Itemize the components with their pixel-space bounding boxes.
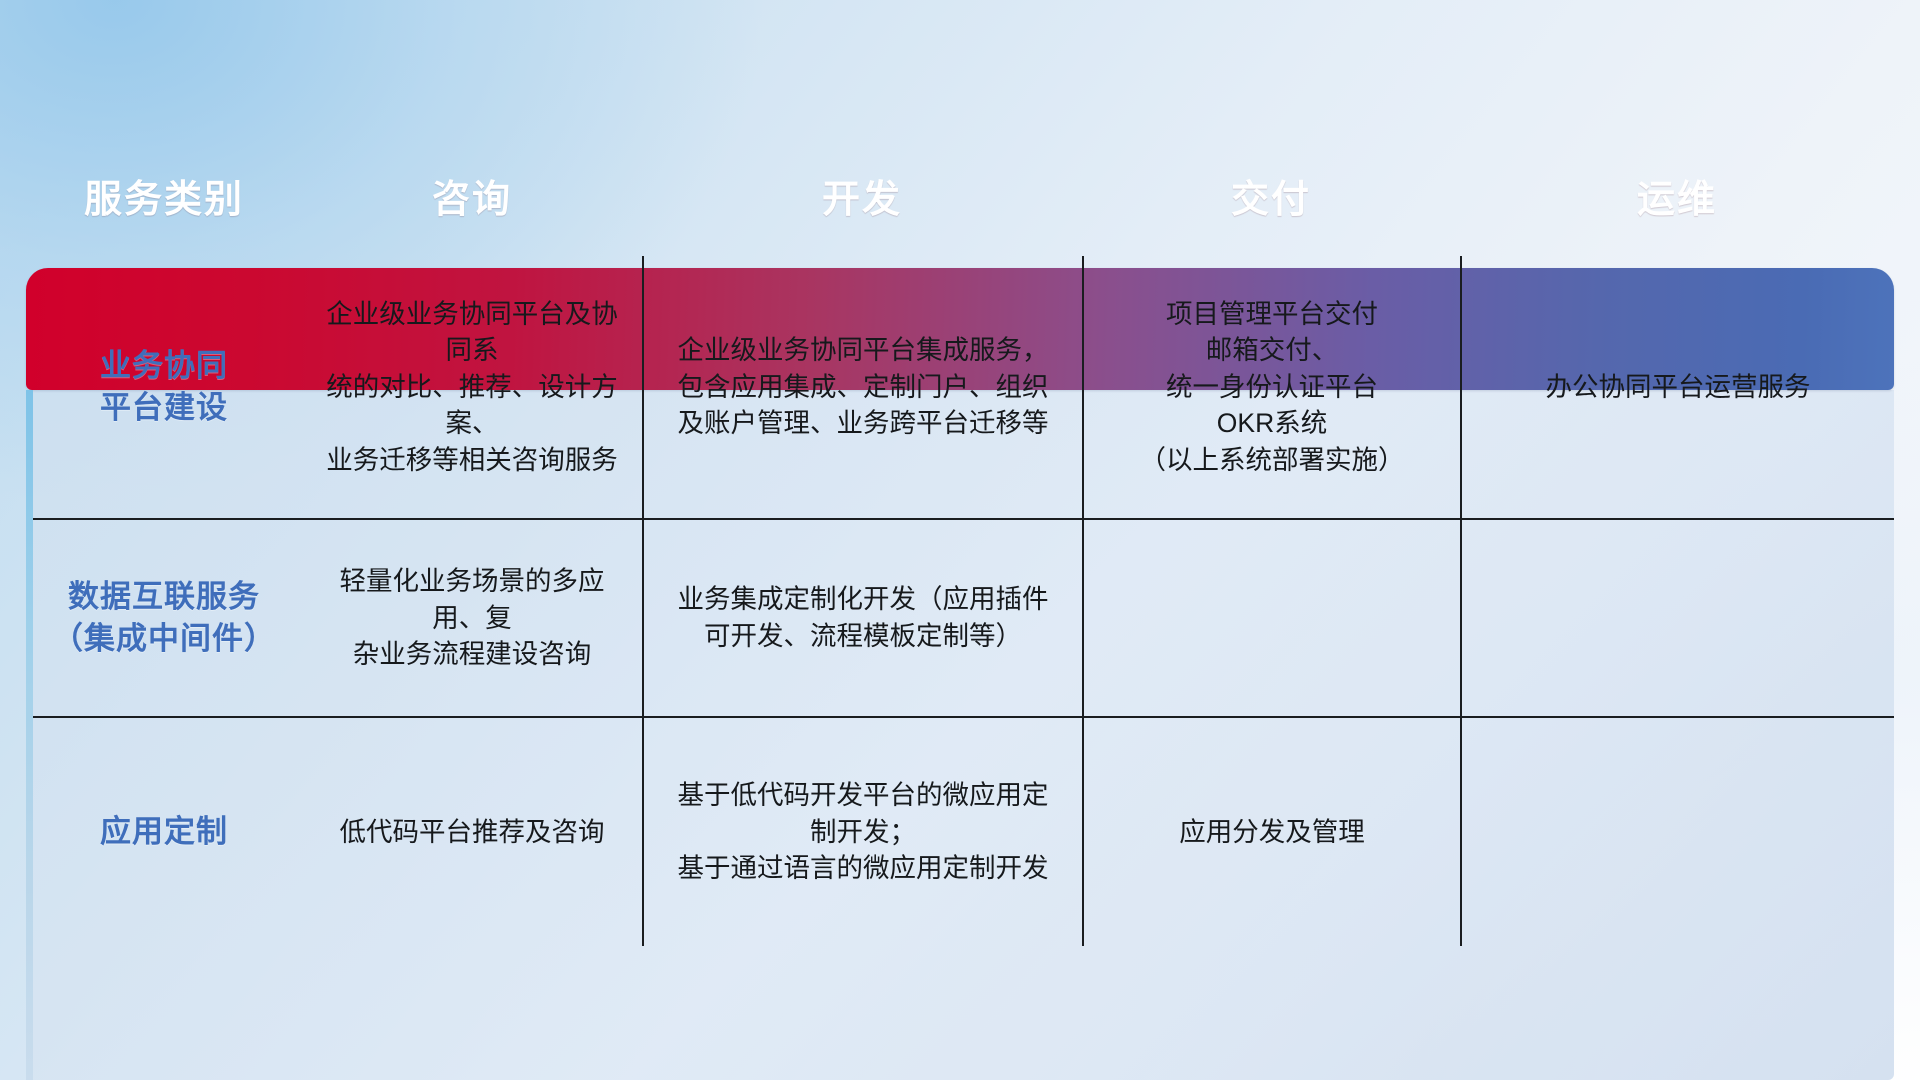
service-matrix-table: 服务类别 咨询 开发 交付 运维 业务协同 平台建设 企业级业务协同平台及协同系… (26, 134, 1894, 954)
row-label-data-interconnect: 数据互联服务 （集成中间件） (26, 518, 302, 716)
cell-r2-delivery: 应用分发及管理 (1082, 716, 1460, 946)
header-cell-operations: 运维 (1460, 134, 1894, 256)
header-cell-consulting: 咨询 (302, 134, 642, 256)
cell-r0-consulting: 企业级业务协同平台及协同系 统的对比、推荐、设计方案、 业务迁移等相关咨询服务 (302, 256, 642, 518)
cell-r1-operations (1460, 518, 1894, 716)
service-table: 服务类别 咨询 开发 交付 运维 业务协同 平台建设 企业级业务协同平台及协同系… (26, 134, 1894, 946)
header-row: 服务类别 咨询 开发 交付 运维 (26, 134, 1894, 256)
header-cell-delivery: 交付 (1082, 134, 1460, 256)
header-label-3: 交付 (1231, 179, 1311, 221)
cell-r0-delivery: 项目管理平台交付 邮箱交付、 统一身份认证平台 OKR系统 （以上系统部署实施） (1082, 256, 1460, 518)
left-accent-strip (26, 390, 33, 1080)
table-row: 业务协同 平台建设 企业级业务协同平台及协同系 统的对比、推荐、设计方案、 业务… (26, 256, 1894, 518)
row-label-business-collaboration: 业务协同 平台建设 (26, 256, 302, 518)
header-label-2: 开发 (822, 179, 902, 221)
header-label-4: 运维 (1637, 179, 1717, 221)
cell-r1-delivery (1082, 518, 1460, 716)
slide-canvas: 服务类别 咨询 开发 交付 运维 业务协同 平台建设 企业级业务协同平台及协同系… (0, 0, 1920, 1080)
table-body: 业务协同 平台建设 企业级业务协同平台及协同系 统的对比、推荐、设计方案、 业务… (26, 256, 1894, 946)
cell-r0-development: 企业级业务协同平台集成服务， 包含应用集成、定制门户、组织 及账户管理、业务跨平… (642, 256, 1082, 518)
cell-r1-development: 业务集成定制化开发（应用插件 可开发、流程模板定制等） (642, 518, 1082, 716)
cell-r2-development: 基于低代码开发平台的微应用定 制开发； 基于通过语言的微应用定制开发 (642, 716, 1082, 946)
header-label-1: 咨询 (432, 179, 512, 221)
table-row: 数据互联服务 （集成中间件） 轻量化业务场景的多应用、复 杂业务流程建设咨询 业… (26, 518, 1894, 716)
cell-r2-consulting: 低代码平台推荐及咨询 (302, 716, 642, 946)
table-head: 服务类别 咨询 开发 交付 运维 (26, 134, 1894, 256)
row-label-app-customization: 应用定制 (26, 716, 302, 946)
cell-r2-operations (1460, 716, 1894, 946)
cell-r1-consulting: 轻量化业务场景的多应用、复 杂业务流程建设咨询 (302, 518, 642, 716)
header-cell-development: 开发 (642, 134, 1082, 256)
table-row: 应用定制 低代码平台推荐及咨询 基于低代码开发平台的微应用定 制开发； 基于通过… (26, 716, 1894, 946)
header-cell-service-category: 服务类别 (26, 134, 302, 256)
cell-r0-operations: 办公协同平台运营服务 (1460, 256, 1894, 518)
header-label-0: 服务类别 (84, 179, 244, 221)
